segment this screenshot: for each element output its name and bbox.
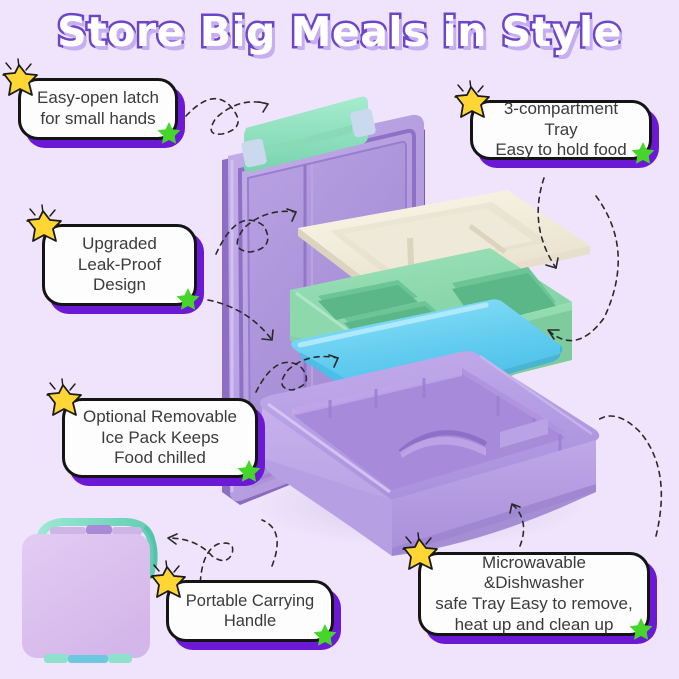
callout-box: Upgraded Leak-Proof Design (42, 224, 197, 306)
latch-clip-left (241, 138, 268, 168)
callout-box: Microwavable &Dishwasher safe Tray Easy … (418, 552, 650, 636)
closed-box-hinge (50, 525, 142, 535)
callout-text: Easy-open latch for small hands (25, 84, 171, 133)
callout-box: 3-compartment Tray Easy to hold food (470, 100, 652, 160)
connector-leakproof-2 (208, 300, 272, 340)
lunchbox-latch (241, 97, 377, 173)
callout-easy-open-latch[interactable]: Easy-open latch for small hands (18, 78, 178, 140)
callout-text: 3-compartment Tray Easy to hold food (473, 95, 649, 165)
callout-three-compartment-tray[interactable]: 3-compartment Tray Easy to hold food (470, 100, 652, 160)
page-title: Store Big Meals in Style (0, 8, 679, 56)
callout-portable-carrying-handle[interactable]: Portable Carrying Handle (166, 580, 334, 642)
base-container (260, 351, 599, 556)
connector-microwave (512, 504, 524, 546)
callout-text: Portable Carrying Handle (174, 587, 326, 635)
callout-box: Portable Carrying Handle (166, 580, 334, 642)
callout-text: Upgraded Leak-Proof Design (66, 230, 173, 300)
connector-tray (538, 178, 556, 268)
closed-box-latches (44, 654, 132, 663)
closed-box-body (22, 534, 150, 658)
callout-leak-proof-design[interactable]: Upgraded Leak-Proof Design (42, 224, 197, 306)
connector-handle-2 (262, 520, 277, 566)
connector-microwave-2 (598, 416, 661, 536)
ice-pack (291, 299, 562, 410)
connector-leakproof (216, 211, 296, 254)
connector-icepack (256, 357, 338, 393)
seal-frame (298, 190, 590, 300)
three-compartment-tray (290, 248, 572, 401)
callout-text: Microwavable &Dishwasher safe Tray Easy … (421, 549, 647, 640)
infographic-canvas: Store Big Meals in Style (0, 0, 679, 679)
product-ground-shadow (255, 463, 585, 547)
callout-box: Optional Removable Ice Pack Keeps Food c… (62, 398, 258, 478)
callout-box: Easy-open latch for small hands (18, 78, 178, 140)
latch-clip-right (350, 108, 377, 138)
connector-tray2 (548, 196, 618, 341)
connector-latch (186, 99, 268, 135)
callout-text: Optional Removable Ice Pack Keeps Food c… (71, 403, 249, 473)
callout-removable-ice-pack[interactable]: Optional Removable Ice Pack Keeps Food c… (62, 398, 258, 478)
carrying-handle (40, 522, 153, 575)
callout-microwavable-dishwasher-safe[interactable]: Microwavable &Dishwasher safe Tray Easy … (418, 552, 650, 636)
